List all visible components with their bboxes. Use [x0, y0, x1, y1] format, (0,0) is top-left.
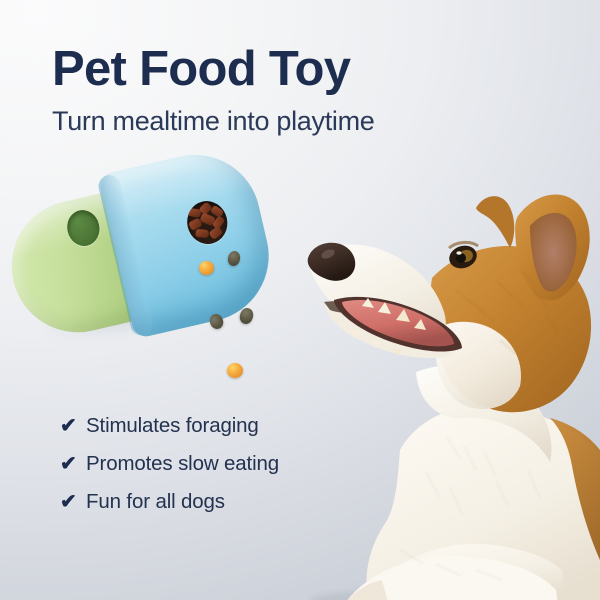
feature-label: Fun for all dogs: [86, 490, 225, 514]
kibble-orange-lower: [227, 363, 243, 378]
check-icon: ✔: [60, 416, 86, 436]
check-icon: ✔: [60, 454, 86, 474]
product-poster: Pet Food Toy Turn mealtime into playtime…: [0, 0, 600, 600]
pet-food-toy: [0, 133, 292, 387]
dog-photo: [250, 150, 600, 600]
list-item: ✔ Promotes slow eating: [60, 446, 279, 481]
feature-list: ✔ Stimulates foraging ✔ Promotes slow ea…: [60, 408, 279, 522]
kibble-orange-upper: [199, 261, 214, 275]
feature-label: Stimulates foraging: [86, 414, 259, 438]
page-title: Pet Food Toy: [52, 44, 350, 95]
page-subtitle: Turn mealtime into playtime: [52, 105, 375, 139]
list-item: ✔ Fun for all dogs: [60, 484, 279, 519]
dog-ear-far: [476, 196, 514, 248]
feature-label: Promotes slow eating: [86, 452, 279, 476]
check-icon: ✔: [60, 492, 86, 512]
list-item: ✔ Stimulates foraging: [60, 408, 279, 443]
